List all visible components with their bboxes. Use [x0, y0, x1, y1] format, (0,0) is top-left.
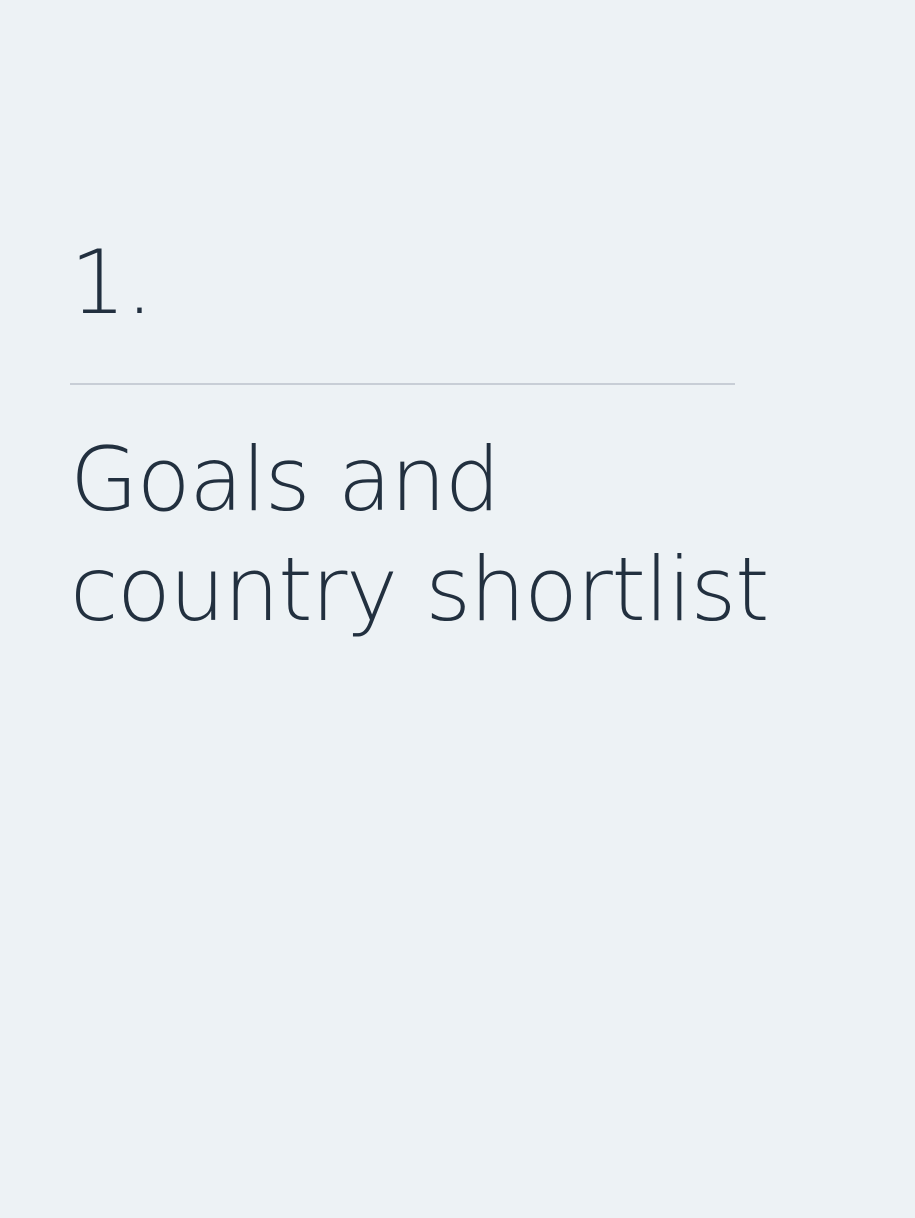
section-number: 1. [70, 236, 770, 329]
page-title: Goals and country shortlist [70, 425, 770, 645]
section-divider-slide: 1. Goals and country shortlist [0, 0, 915, 1218]
section-heading-block: 1. Goals and country shortlist [70, 236, 770, 645]
section-divider-rule [70, 383, 735, 385]
